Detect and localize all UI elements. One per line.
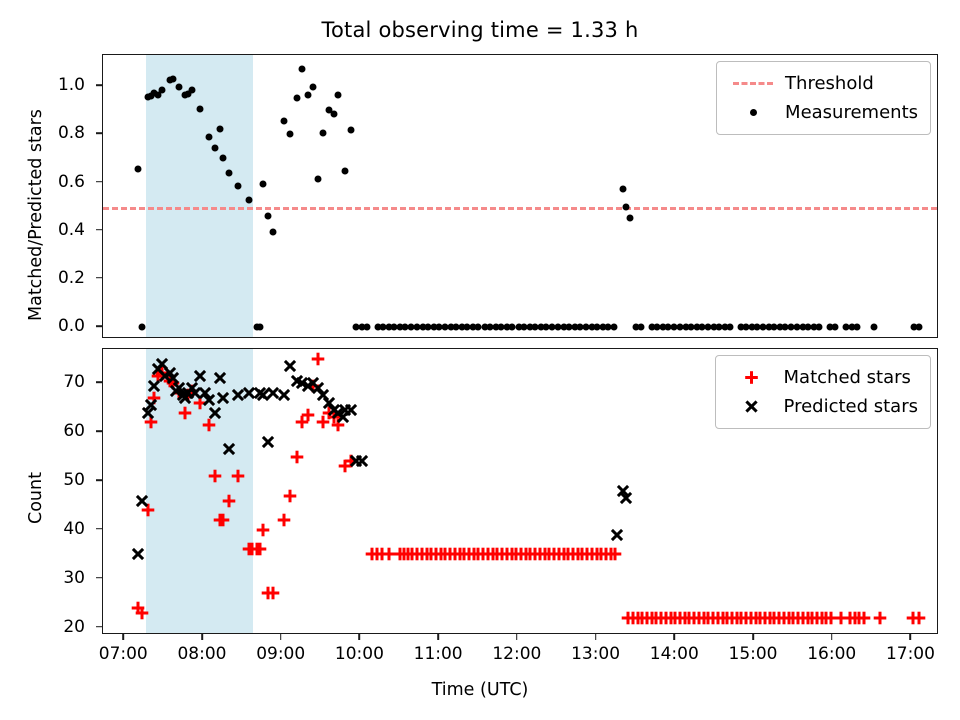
matched-star-point xyxy=(758,610,773,625)
matched-star-point xyxy=(658,610,673,625)
matched-star-point xyxy=(499,547,514,562)
matched-star-point xyxy=(306,378,321,393)
matched-star-point xyxy=(295,415,310,430)
x-axis-tick-mark xyxy=(359,634,361,640)
predicted-star-point xyxy=(331,405,346,420)
legend-entry[interactable]: Threshold xyxy=(727,69,918,98)
predicted-star-point xyxy=(295,376,310,391)
measurement-point xyxy=(314,175,321,182)
matched-star-point xyxy=(644,610,659,625)
matched-star-point xyxy=(326,410,341,425)
measurement-point xyxy=(627,215,634,222)
matched-star-point xyxy=(365,547,380,562)
matched-star-point xyxy=(369,547,384,562)
y-axis-tick-mark xyxy=(96,325,102,327)
threshold-line-icon xyxy=(727,82,779,85)
measurement-point xyxy=(342,168,349,175)
x-axis-tick-label: 17:00 xyxy=(886,644,935,664)
matched-star-point xyxy=(691,610,706,625)
matched-star-point xyxy=(532,547,547,562)
x-axis-tick-label: 11:00 xyxy=(414,644,463,664)
legend-label: Matched stars xyxy=(778,367,911,388)
matched-star-point xyxy=(687,610,702,625)
x-axis-tick-label: 15:00 xyxy=(729,644,778,664)
matched-star-point xyxy=(673,610,688,625)
measurement-point xyxy=(216,125,223,132)
matched-star-point xyxy=(485,547,500,562)
measurement-point xyxy=(294,94,301,101)
y-axis-tick-label: 0.8 xyxy=(0,123,94,143)
matched-star-point xyxy=(428,547,443,562)
measurement-point xyxy=(245,196,252,203)
x-axis-tick-label: 16:00 xyxy=(807,644,856,664)
x-axis-tick-label: 07:00 xyxy=(99,644,148,664)
measurement-point xyxy=(335,92,342,99)
matched-star-point xyxy=(518,547,533,562)
figure-root: Total observing time = 1.33 h ThresholdM… xyxy=(0,0,960,720)
measurement-point xyxy=(270,229,277,236)
x-axis-tick-label: 10:00 xyxy=(335,644,384,664)
x-axis-tick-mark xyxy=(752,634,754,640)
matched-star-point xyxy=(580,547,595,562)
bottom-panel-legend: Matched starsPredicted stars xyxy=(715,355,931,429)
matched-star-point xyxy=(635,610,650,625)
measurement-point xyxy=(320,130,327,137)
y-axis-tick-label: 40 xyxy=(0,519,94,539)
matched-star-point xyxy=(466,547,481,562)
matched-star-point xyxy=(556,547,571,562)
x-axis-tick-mark xyxy=(516,634,518,640)
x-axis-tick-label: 13:00 xyxy=(571,644,620,664)
matched-star-point xyxy=(537,547,552,562)
matched-star-point xyxy=(599,547,614,562)
matched-star-point xyxy=(514,547,529,562)
y-axis-tick-label: 0.0 xyxy=(0,316,94,336)
plus-marker-icon xyxy=(726,370,778,385)
measurement-point xyxy=(188,86,195,93)
matched-star-point xyxy=(400,547,415,562)
matched-star-point xyxy=(748,610,763,625)
y-axis-tick-label: 30 xyxy=(0,568,94,588)
measurement-point xyxy=(211,144,218,151)
measurement-point xyxy=(220,155,227,162)
matched-star-point xyxy=(523,547,538,562)
matched-star-point xyxy=(290,449,305,464)
matched-star-point xyxy=(776,610,791,625)
predicted-star-point xyxy=(130,547,145,562)
matched-star-point xyxy=(396,547,411,562)
measurement-point xyxy=(363,323,370,330)
predicted-star-point xyxy=(321,395,336,410)
matched-star-point xyxy=(762,610,777,625)
predicted-star-point xyxy=(310,381,325,396)
threshold-line xyxy=(103,207,937,210)
matched-star-point xyxy=(630,610,645,625)
matched-star-point xyxy=(819,610,834,625)
measurement-point xyxy=(287,131,294,138)
matched-star-point xyxy=(805,610,820,625)
matched-star-point xyxy=(374,547,389,562)
x-axis-tick-mark xyxy=(122,634,124,640)
predicted-star-point xyxy=(619,491,634,506)
matched-star-point xyxy=(767,610,782,625)
matched-star-point xyxy=(561,547,576,562)
matched-star-point xyxy=(392,547,407,562)
predicted-star-point xyxy=(343,403,358,418)
matched-star-point xyxy=(724,610,739,625)
y-axis-tick-mark xyxy=(96,528,102,530)
matched-star-point xyxy=(495,547,510,562)
measurement-point xyxy=(265,212,272,219)
matched-star-point xyxy=(338,459,353,474)
matched-star-point xyxy=(682,610,697,625)
x-axis-tick-mark xyxy=(673,634,675,640)
matched-star-point xyxy=(509,547,524,562)
y-axis-tick-mark xyxy=(96,277,102,279)
predicted-star-point xyxy=(349,454,364,469)
measurement-point xyxy=(916,323,923,330)
matched-star-point xyxy=(261,586,276,601)
matched-star-point xyxy=(677,610,692,625)
predicted-star-point xyxy=(283,359,298,374)
measurement-point xyxy=(638,323,645,330)
matched-star-point xyxy=(504,547,519,562)
matched-star-point xyxy=(547,547,562,562)
predicted-star-point xyxy=(255,388,270,403)
matched-star-point xyxy=(753,610,768,625)
measurement-point xyxy=(138,323,145,330)
matched-star-point xyxy=(438,547,453,562)
matched-star-point xyxy=(589,547,604,562)
y-axis-tick-mark xyxy=(96,181,102,183)
matched-star-point xyxy=(575,547,590,562)
measurement-point xyxy=(256,323,263,330)
y-axis-tick-label: 0.6 xyxy=(0,172,94,192)
x-axis-tick-mark xyxy=(910,634,912,640)
x-axis-tick-label: 09:00 xyxy=(256,644,305,664)
matched-star-point xyxy=(443,547,458,562)
bottom-panel-counts: Matched starsPredicted stars xyxy=(102,348,938,634)
y-axis-tick-label: 0.2 xyxy=(0,268,94,288)
legend-label: Predicted stars xyxy=(778,396,918,417)
legend-label: Threshold xyxy=(779,73,874,94)
matched-star-point xyxy=(621,610,636,625)
legend-entry[interactable]: Matched stars xyxy=(726,363,918,392)
matched-star-point xyxy=(654,610,669,625)
measurement-point xyxy=(854,323,861,330)
matched-star-point xyxy=(795,610,810,625)
cross-marker-icon xyxy=(726,399,778,414)
matched-star-point xyxy=(130,601,145,616)
predicted-star-point xyxy=(326,403,341,418)
matched-star-point xyxy=(414,547,429,562)
matched-star-point xyxy=(331,417,346,432)
matched-star-point xyxy=(490,547,505,562)
figure-title: Total observing time = 1.33 h xyxy=(0,18,960,42)
matched-star-point xyxy=(743,610,758,625)
matched-star-point xyxy=(715,610,730,625)
matched-star-point xyxy=(565,547,580,562)
predicted-star-point xyxy=(338,403,353,418)
matched-star-point xyxy=(800,610,815,625)
predicted-star-point xyxy=(261,434,276,449)
matched-star-point xyxy=(663,610,678,625)
y-axis-tick-label: 0.4 xyxy=(0,220,94,240)
y-axis-tick-label: 60 xyxy=(0,421,94,441)
matched-star-point xyxy=(594,547,609,562)
predicted-star-point xyxy=(354,454,369,469)
matched-star-point xyxy=(791,610,806,625)
measurement-point xyxy=(159,86,166,93)
matched-star-point xyxy=(847,610,862,625)
predicted-star-point xyxy=(252,386,267,401)
matched-star-point xyxy=(447,547,462,562)
measurement-point xyxy=(206,133,213,140)
measurement-point xyxy=(310,83,317,90)
predicted-star-point xyxy=(615,483,630,498)
measurement-point xyxy=(619,185,626,192)
y-axis-tick-mark xyxy=(96,430,102,432)
matched-star-point xyxy=(528,547,543,562)
matched-star-point xyxy=(706,610,721,625)
x-axis-tick-mark xyxy=(201,634,203,640)
matched-star-point xyxy=(321,405,336,420)
matched-star-point xyxy=(419,547,434,562)
measurement-point xyxy=(727,323,734,330)
measurement-point xyxy=(176,84,183,91)
matched-star-point xyxy=(911,610,926,625)
matched-star-point xyxy=(833,610,848,625)
predicted-star-point xyxy=(306,376,321,391)
measurement-point xyxy=(225,169,232,176)
predicted-star-point xyxy=(290,373,305,388)
matched-star-point xyxy=(710,610,725,625)
matched-star-point xyxy=(410,547,425,562)
measurement-point xyxy=(816,323,823,330)
y-axis-tick-mark xyxy=(96,479,102,481)
y-axis-tick-mark xyxy=(96,229,102,231)
matched-star-point xyxy=(476,547,491,562)
legend-entry[interactable]: Measurements xyxy=(727,98,918,127)
matched-star-point xyxy=(405,547,420,562)
measurement-point xyxy=(870,323,877,330)
matched-star-point xyxy=(872,610,887,625)
matched-star-point xyxy=(739,610,754,625)
matched-star-point xyxy=(639,610,654,625)
measurement-point xyxy=(610,323,617,330)
predicted-star-point xyxy=(610,527,625,542)
y-axis-tick-mark xyxy=(96,381,102,383)
x-axis-tick-mark xyxy=(595,634,597,640)
top-panel-ytick-column: 0.00.20.40.60.81.0 xyxy=(0,54,94,338)
matched-star-point xyxy=(734,610,749,625)
x-axis-tick-mark xyxy=(280,634,282,640)
y-axis-tick-mark xyxy=(96,577,102,579)
matched-star-point xyxy=(649,610,664,625)
legend-label: Measurements xyxy=(779,102,918,123)
matched-star-point xyxy=(480,547,495,562)
observing-window-shade-top xyxy=(146,55,253,337)
y-axis-tick-label: 70 xyxy=(0,372,94,392)
matched-star-point xyxy=(809,610,824,625)
matched-star-point xyxy=(252,542,267,557)
matched-star-point xyxy=(283,488,298,503)
y-axis-tick-label: 20 xyxy=(0,617,94,637)
matched-star-point xyxy=(300,408,315,423)
matched-star-point xyxy=(570,547,585,562)
matched-star-point xyxy=(381,547,396,562)
measurement-point xyxy=(347,126,354,133)
matched-star-point xyxy=(906,610,921,625)
legend-entry[interactable]: Predicted stars xyxy=(726,392,918,421)
measurement-point xyxy=(832,323,839,330)
matched-star-point xyxy=(701,610,716,625)
predicted-star-point xyxy=(300,378,315,393)
measurement-point xyxy=(259,181,266,188)
matched-star-point xyxy=(316,415,331,430)
matched-star-point xyxy=(720,610,735,625)
x-axis-tick-label: 08:00 xyxy=(177,644,226,664)
matched-star-point xyxy=(608,547,623,562)
matched-star-point xyxy=(551,547,566,562)
matched-star-point xyxy=(457,547,472,562)
matched-star-point xyxy=(343,454,358,469)
measurement-point xyxy=(134,166,141,173)
matched-star-point xyxy=(433,547,448,562)
x-axis-tick-mark xyxy=(437,634,439,640)
matched-star-point xyxy=(824,610,839,625)
x-axis-tick-label: 14:00 xyxy=(650,644,699,664)
matched-star-point xyxy=(786,610,801,625)
matched-star-point xyxy=(452,547,467,562)
matched-star-point xyxy=(729,610,744,625)
matched-star-point xyxy=(277,513,292,528)
top-panel-ratio: ThresholdMeasurements xyxy=(102,54,938,338)
matched-star-point xyxy=(584,547,599,562)
measurement-point xyxy=(304,92,311,99)
measurement-point xyxy=(623,204,630,211)
bottom-panel-ytick-column: 203040506070 xyxy=(0,348,94,634)
matched-star-point xyxy=(542,547,557,562)
measurement-point xyxy=(235,183,242,190)
x-axis-tick-mark xyxy=(831,634,833,640)
matched-star-point xyxy=(814,610,829,625)
matched-star-point xyxy=(310,351,325,366)
y-axis-tick-mark xyxy=(96,626,102,628)
matched-star-point xyxy=(471,547,486,562)
measurement-point xyxy=(281,118,288,125)
y-axis-tick-label: 50 xyxy=(0,470,94,490)
y-axis-tick-mark xyxy=(96,133,102,135)
bottom-panel-ylabel: Count xyxy=(26,472,46,524)
measurement-point xyxy=(299,65,306,72)
predicted-star-point xyxy=(266,386,281,401)
y-axis-tick-mark xyxy=(96,84,102,86)
y-axis-tick-label: 1.0 xyxy=(0,75,94,95)
top-panel-ylabel: Matched/Predicted stars xyxy=(26,109,46,321)
matched-star-point xyxy=(843,610,858,625)
matched-star-point xyxy=(266,586,281,601)
matched-star-point xyxy=(625,610,640,625)
matched-star-point xyxy=(462,547,477,562)
matched-star-point xyxy=(852,610,867,625)
matched-star-point xyxy=(857,610,872,625)
x-axis-tick-label: 12:00 xyxy=(492,644,541,664)
dot-marker-icon xyxy=(727,105,779,120)
matched-star-point xyxy=(781,610,796,625)
matched-star-point xyxy=(603,547,618,562)
matched-star-point xyxy=(668,610,683,625)
top-panel-legend: ThresholdMeasurements xyxy=(716,61,931,135)
matched-star-point xyxy=(772,610,787,625)
matched-star-point xyxy=(255,522,270,537)
measurement-point xyxy=(330,110,337,117)
matched-star-point xyxy=(696,610,711,625)
predicted-star-point xyxy=(336,410,351,425)
predicted-star-point xyxy=(316,388,331,403)
matched-star-point xyxy=(424,547,439,562)
predicted-star-point xyxy=(277,388,292,403)
measurement-point xyxy=(196,106,203,113)
observing-window-shade-bottom xyxy=(146,349,253,633)
measurement-point xyxy=(170,76,177,83)
x-axis-label: Time (UTC) xyxy=(0,680,960,700)
